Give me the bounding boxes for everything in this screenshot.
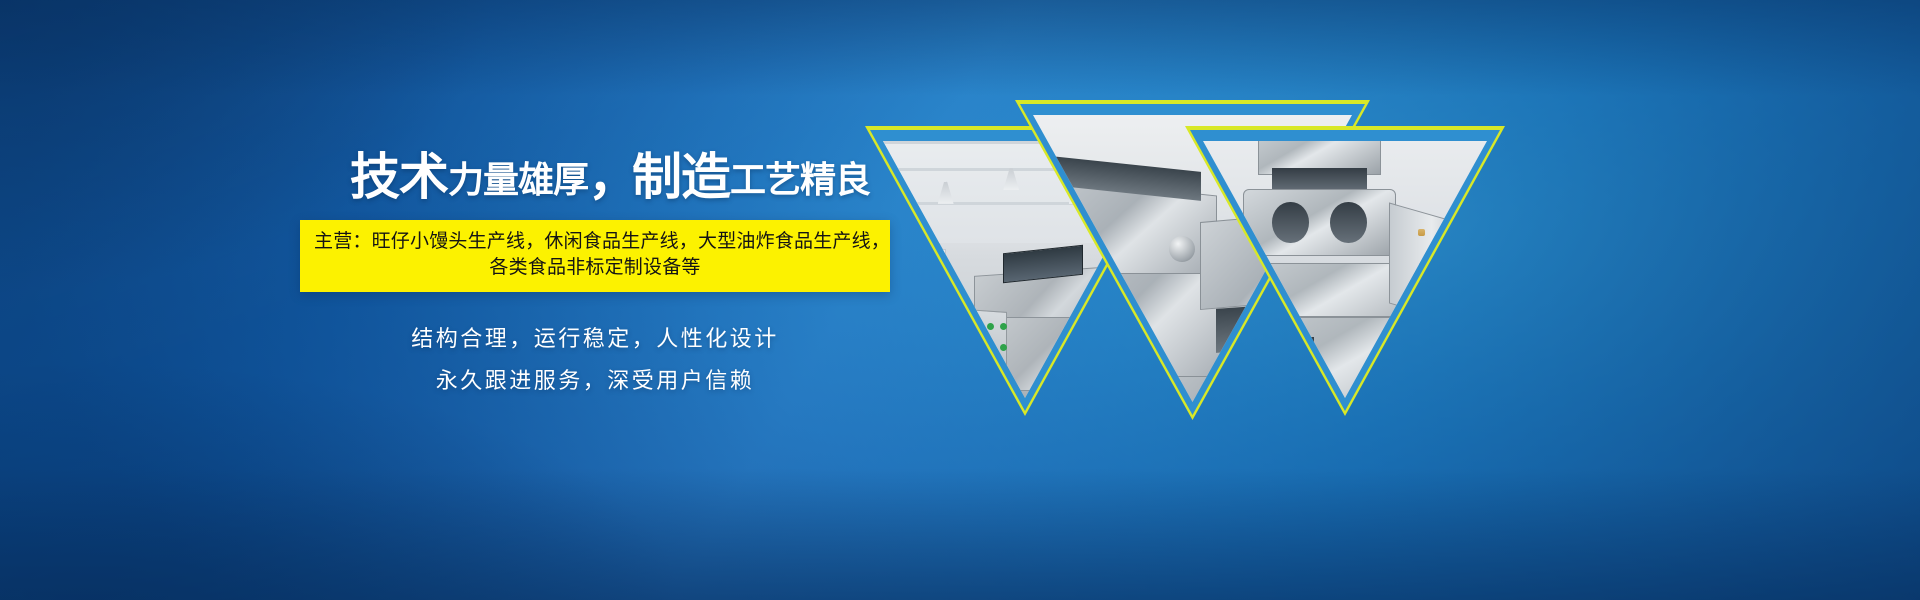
triangle-photo-c — [1203, 141, 1487, 398]
feature-line-1: 结构合理，运行稳定，人性化设计 — [300, 318, 890, 360]
main-business-line-2: 各类食品非标定制设备等 — [314, 255, 876, 281]
main-business-highlight-box: 主营：旺仔小馒头生产线，休闲食品生产线，大型油炸食品生产线， 各类食品非标定制设… — [300, 220, 890, 292]
banner-copy-block: 技术力量雄厚，制造工艺精良 主营：旺仔小馒头生产线，休闲食品生产线，大型油炸食品… — [300, 146, 920, 402]
headline-segment-3: ， — [588, 149, 632, 205]
headline-segment-1: 技术 — [350, 149, 448, 205]
promo-banner: 技术力量雄厚，制造工艺精良 主营：旺仔小馒头生产线，休闲食品生产线，大型油炸食品… — [0, 0, 1920, 600]
headline-segment-2: 力量雄厚 — [448, 159, 588, 200]
feature-line-2: 永久跟进服务，深受用户信赖 — [300, 360, 890, 402]
triangle-photo-gallery — [845, 100, 1545, 460]
banner-headline: 技术力量雄厚，制造工艺精良 — [300, 146, 920, 208]
headline-segment-4: 制造 — [632, 149, 730, 205]
gallery-item-forming-machine-photo — [1185, 126, 1505, 416]
feature-text-block: 结构合理，运行稳定，人性化设计 永久跟进服务，深受用户信赖 — [300, 318, 890, 402]
main-business-line-1: 主营：旺仔小馒头生产线，休闲食品生产线，大型油炸食品生产线， — [314, 229, 876, 255]
